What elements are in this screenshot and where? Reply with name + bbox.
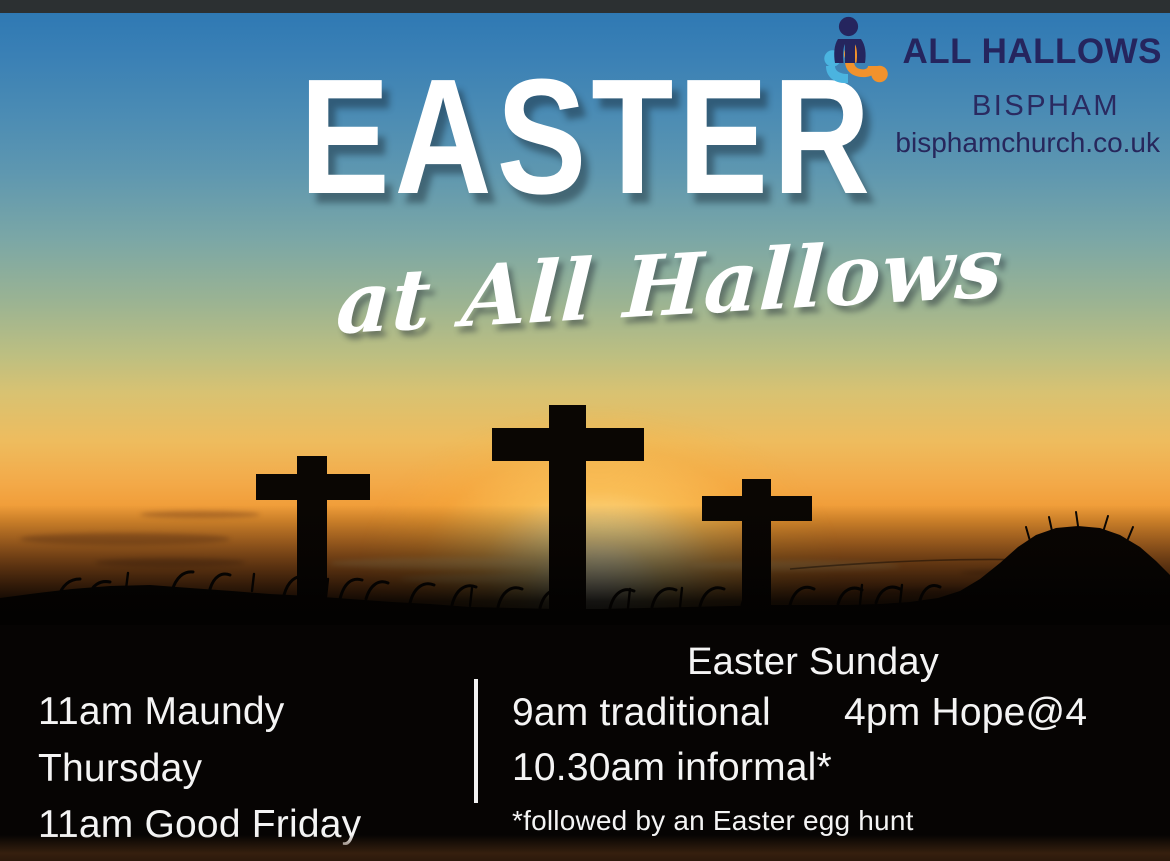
column-divider [474,679,478,803]
service-maundy-thursday: 11am Maundy Thursday [38,684,458,797]
service-times-panel: 11am Maundy Thursday 11am Good Friday Ea… [0,625,1170,861]
all-hallows-people-logo-icon [820,14,894,88]
logo-church-name: ALL HALLOWS [902,34,1162,69]
service-4pm-hope: 4pm Hope@4 [844,685,1087,740]
service-row: 9am traditional 4pm Hope@4 [512,685,1142,740]
logo-primary-row: ALL HALLOWS [820,14,1162,88]
top-letterbox-bar [0,0,1170,13]
weekday-services-column: 11am Maundy Thursday 11am Good Friday [38,684,458,854]
service-row: 10.30am informal* [512,740,1142,795]
logo-website-url[interactable]: bisphamchurch.co.uk [820,129,1160,157]
service-9am-traditional: 9am traditional [512,685,844,740]
easter-sunday-heading: Easter Sunday [512,641,1142,685]
church-logo[interactable]: ALL HALLOWS BISPHAM bisphamchurch.co.uk [820,14,1162,157]
logo-location: BISPHAM [820,92,1120,121]
easter-sunday-column: Easter Sunday 9am traditional 4pm Hope@4… [512,641,1142,840]
photo-to-black-fade [0,505,1170,625]
bottom-warm-glow [0,835,1170,861]
easter-poster: EASTER at All Hallows [0,0,1170,861]
service-1030am-informal: 10.30am informal* [512,740,844,795]
